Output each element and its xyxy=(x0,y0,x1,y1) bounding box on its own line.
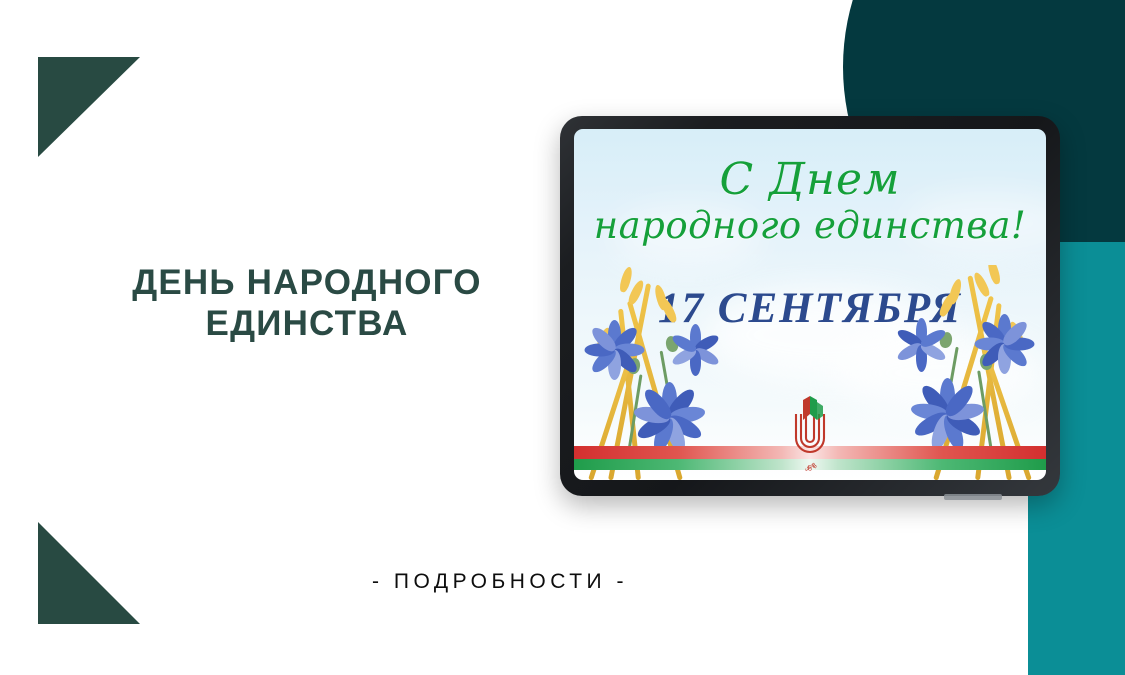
greeting-block: С Днем народного единства! xyxy=(574,157,1046,246)
details-link[interactable]: - ПОДРОБНОСТИ - xyxy=(0,570,1000,594)
triangle-top-left-decor xyxy=(38,57,140,157)
belarus-university-emblem-icon: Б Е Л О Ю З xyxy=(779,390,841,472)
greeting-line-1: С Днем xyxy=(574,157,1046,203)
page-title: ДЕНЬ НАРОДНОГО ЕДИНСТВА xyxy=(92,262,522,345)
greeting-line-2: народного единства! xyxy=(574,207,1046,246)
tablet-mockup: С Днем народного единства! 17 СЕНТЯБРЯ xyxy=(560,116,1060,496)
tablet-screen: С Днем народного единства! 17 СЕНТЯБРЯ xyxy=(574,129,1046,480)
poster-canvas: ДЕНЬ НАРОДНОГО ЕДИНСТВА - ПОДРОБНОСТИ - … xyxy=(0,0,1125,675)
